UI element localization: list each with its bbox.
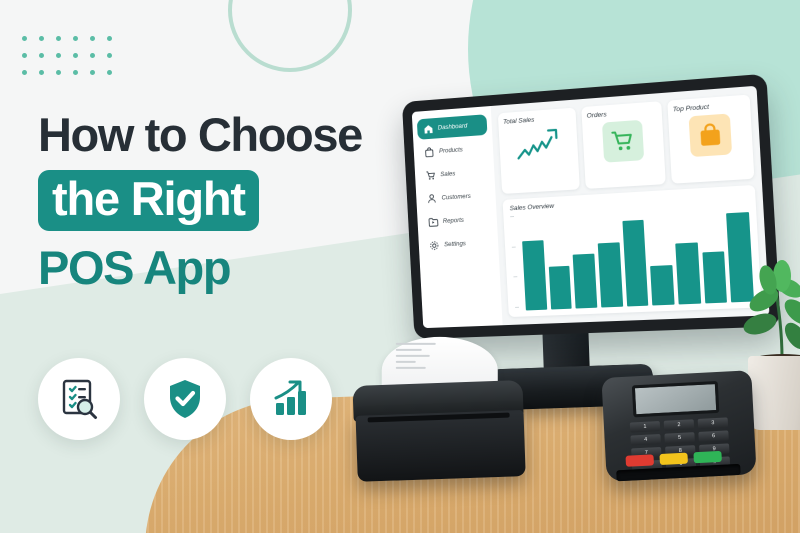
badge-growth-chart[interactable] [250, 358, 332, 440]
sidebar-item-label: Settings [444, 240, 466, 248]
sidebar-item-settings[interactable]: Settings [423, 232, 494, 256]
terminal-body: 123456789*0# [601, 370, 756, 482]
keypad-key-2[interactable]: 2 [664, 419, 694, 431]
line-chart-up-icon [515, 126, 561, 163]
sidebar-item-products[interactable]: Products [418, 138, 489, 163]
sales-overview-plot [510, 202, 754, 311]
chart-bar [522, 240, 547, 310]
home-icon [423, 123, 434, 134]
receipt-text-line [396, 367, 426, 369]
dot-grid-decoration [22, 36, 118, 88]
sidebar-item-customers[interactable]: Customers [421, 185, 492, 210]
y-tick [515, 307, 519, 308]
ring-outline-decoration [228, 0, 352, 72]
enter-key[interactable] [693, 451, 722, 463]
y-tick [513, 276, 517, 277]
keypad-key-1[interactable]: 1 [630, 421, 660, 433]
bag-icon [424, 146, 435, 157]
tablet-screen: DashboardProductsSalesCustomersReportsSe… [412, 86, 770, 328]
pos-app-sidebar: DashboardProductsSalesCustomersReportsSe… [412, 106, 503, 328]
sidebar-item-dashboard[interactable]: Dashboard [417, 114, 488, 140]
printer-body [356, 410, 526, 482]
headline-line-3: POS App [38, 243, 418, 292]
feature-badges [38, 358, 332, 440]
stat-card-orders[interactable]: Orders [581, 101, 666, 189]
receipt-text-line [396, 343, 436, 345]
tablet-device: DashboardProductsSalesCustomersReportsSe… [400, 88, 770, 333]
y-tick [510, 216, 514, 217]
tablet-bezel: DashboardProductsSalesCustomersReportsSe… [402, 74, 781, 340]
sidebar-item-label: Sales [440, 170, 455, 178]
badge-checklist-search[interactable] [38, 358, 120, 440]
person-icon [426, 193, 437, 204]
potted-plant [734, 258, 800, 383]
cancel-key[interactable] [625, 454, 654, 466]
sidebar-item-sales[interactable]: Sales [419, 161, 490, 186]
sidebar-item-label: Dashboard [438, 123, 468, 132]
shopping-cart-icon [610, 128, 635, 154]
stat-card-title: Top Product [673, 104, 710, 114]
headline-block: How to Choose the Right POS App [38, 110, 418, 293]
keypad-key-6[interactable]: 6 [698, 430, 728, 442]
printer-paper-slot [368, 413, 510, 423]
stat-card-total-sales[interactable]: Total Sales [498, 108, 580, 194]
chart-bar [598, 242, 623, 307]
shopping-bag-icon [697, 122, 723, 148]
chart-bar [675, 242, 701, 304]
receipt-text-line [396, 355, 430, 357]
keypad-key-5[interactable]: 5 [664, 432, 694, 444]
headline-highlight-band: the Right [38, 170, 259, 231]
terminal-display [632, 381, 720, 417]
poster-canvas: How to Choose the Right POS App [0, 0, 800, 533]
receipt-text-line [396, 361, 416, 363]
receipt-text-line [396, 349, 422, 351]
y-tick [512, 246, 516, 247]
keypad-key-3[interactable]: 3 [698, 417, 728, 429]
plant-pot [748, 356, 800, 430]
chart-bar [702, 251, 727, 304]
sidebar-item-label: Products [439, 146, 463, 154]
checklist-search-icon [55, 375, 103, 423]
stat-card-visual [515, 126, 562, 168]
chart-bar [650, 265, 674, 305]
chart-bars [521, 202, 754, 311]
sidebar-item-label: Customers [441, 193, 470, 202]
sales-overview-panel: Sales Overview [503, 185, 762, 317]
shield-check-icon [162, 376, 208, 422]
pos-stat-cards: Total SalesOrdersTop Product [498, 95, 755, 194]
chart-y-axis [510, 215, 522, 311]
stat-card-top-product[interactable]: Top Product [667, 95, 754, 184]
card-payment-terminal: 123456789*0# [601, 370, 756, 482]
chart-bar [573, 253, 597, 308]
badge-shield-check[interactable] [144, 358, 226, 440]
cart-icon [425, 170, 436, 181]
sidebar-item-label: Reports [443, 217, 464, 225]
keypad-key-4[interactable]: 4 [630, 434, 660, 446]
stat-card-tile [602, 120, 644, 163]
report-icon [428, 216, 439, 227]
stat-card-tile [689, 113, 733, 157]
headline-line-1: How to Choose [38, 110, 418, 159]
chart-bar [622, 219, 649, 306]
sidebar-item-reports[interactable]: Reports [422, 208, 493, 232]
pos-app-main: Total SalesOrdersTop Product Sales Overv… [491, 86, 770, 325]
stat-card-title: Total Sales [503, 117, 535, 126]
chart-bar [548, 266, 572, 309]
gear-icon [429, 240, 440, 251]
growth-chart-icon [268, 376, 314, 422]
clear-key[interactable] [659, 453, 688, 465]
stat-card-title: Orders [587, 111, 607, 119]
